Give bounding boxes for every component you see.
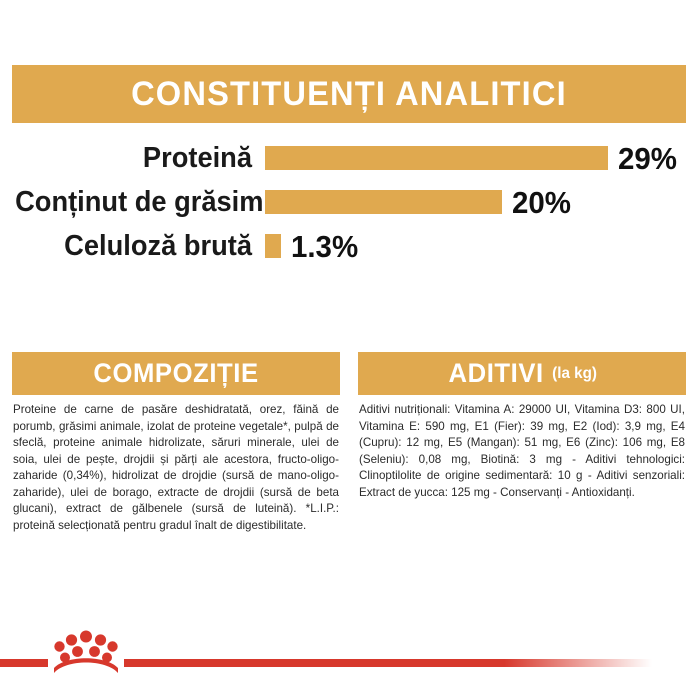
- composition-header: COMPOZIȚIE: [12, 352, 340, 395]
- bar-fill-grasimi: [265, 190, 502, 214]
- additives-header-text: ADITIVI: [448, 358, 543, 389]
- royal-canin-crown-icon: [50, 629, 122, 675]
- additives-body-text: Aditivi nutriționali: Vitamina A: 29000 …: [358, 401, 686, 501]
- bar-row: Proteină 29%: [0, 136, 700, 180]
- footer-rule-right: [124, 659, 652, 667]
- footer-rule-left: [0, 659, 48, 667]
- additives-header-unit: (la kg): [552, 365, 597, 383]
- composition-body-text: Proteine de carne de pasăre deshidratată…: [12, 401, 340, 535]
- additives-header: ADITIVI (la kg): [358, 352, 686, 395]
- bar-fill-proteina: [265, 146, 608, 170]
- bar-value-label: 29%: [618, 143, 677, 174]
- brand-footer: [0, 654, 700, 672]
- composition-section: COMPOZIȚIE Proteine de carne de pasăre d…: [12, 352, 340, 535]
- bar-track: 1.3%: [252, 224, 700, 268]
- product-info-panel: CONSTITUENȚI ANALITICI Proteină 29% Conț…: [0, 0, 700, 700]
- bar-value-label: 20%: [512, 187, 571, 218]
- additives-section: ADITIVI (la kg) Aditivi nutriționali: Vi…: [358, 352, 686, 535]
- banner-title: CONSTITUENȚI ANALITICI: [131, 75, 567, 114]
- bar-fill-celuloza: [265, 234, 281, 258]
- composition-header-text: COMPOZIȚIE: [93, 358, 258, 389]
- bar-track: 29%: [252, 136, 700, 180]
- info-sections: COMPOZIȚIE Proteine de carne de pasăre d…: [12, 352, 686, 535]
- bar-category-label: Celuloză brută: [15, 232, 252, 261]
- analytical-constituents-banner: CONSTITUENȚI ANALITICI: [12, 65, 686, 123]
- bar-row: Celuloză brută 1.3%: [0, 224, 700, 268]
- analytical-constituents-chart: Proteină 29% Conținut de grăsimi 20% Cel…: [0, 136, 700, 268]
- bar-value-label: 1.3%: [291, 231, 358, 262]
- bar-track: 20%: [252, 180, 700, 224]
- bar-category-label: Proteină: [15, 144, 252, 173]
- bar-category-label: Conținut de grăsimi: [15, 188, 252, 217]
- bar-row: Conținut de grăsimi 20%: [0, 180, 700, 224]
